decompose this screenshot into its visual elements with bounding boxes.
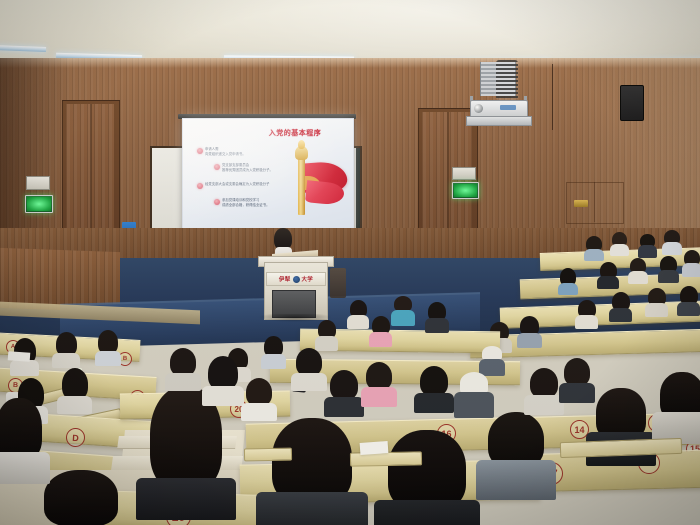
exit-sign-left: [25, 195, 53, 213]
audience-member: [428, 302, 446, 330]
audience-member: [330, 370, 358, 414]
exit-sign-right: [452, 182, 479, 199]
hanging-wire: [552, 64, 553, 130]
wall-device-box-right: [452, 167, 476, 180]
university-crest-icon: [293, 276, 300, 283]
audience-member: [482, 346, 502, 374]
audience-member: [420, 366, 448, 410]
projector-cables: [496, 60, 518, 100]
audience-member: [600, 262, 617, 286]
audience-member: [460, 372, 488, 416]
foreground-audience-member: [660, 372, 700, 442]
door-seam-left: [90, 104, 92, 246]
audience-member: [660, 256, 677, 281]
podium-text-right: 大学: [302, 275, 314, 283]
foreground-audience-member: [44, 470, 118, 525]
audience-member: [350, 300, 367, 326]
wall-speaker: [620, 85, 644, 121]
audience-member: [530, 368, 558, 412]
screen-glare: [182, 118, 352, 231]
projector-mount-plate: [466, 116, 532, 126]
handout-paper[interactable]: [360, 441, 389, 455]
hatch-latch[interactable]: [574, 200, 588, 207]
audience-member: [62, 368, 88, 410]
audience-member: [296, 348, 322, 388]
audience-member: [372, 316, 390, 344]
writing-desk: [244, 448, 292, 462]
audience-member: [564, 358, 590, 400]
audience-member: [640, 234, 655, 256]
audience-member: [98, 330, 118, 362]
podium-nameplate: 伊犁 大学: [266, 272, 326, 286]
audience-member: [56, 332, 77, 364]
audience-member: [560, 268, 576, 292]
foreground-audience-member: [0, 398, 42, 480]
audience-member: [520, 316, 539, 344]
foreground-audience-member: [272, 418, 352, 525]
audience-member: [684, 250, 700, 275]
audience-member: [246, 378, 272, 418]
audience-member: [586, 236, 602, 258]
audience-member: [394, 296, 412, 324]
audience-member: [264, 336, 283, 366]
podium-text-left: 伊犁: [279, 275, 291, 283]
audience-member: [630, 258, 646, 282]
foreground-audience-member: [388, 430, 466, 525]
audience-member: [366, 362, 392, 404]
audience-member: [578, 300, 596, 326]
foreground-audience-member: [488, 412, 544, 498]
audience-member: [680, 286, 698, 313]
stage-chair: [330, 268, 346, 298]
audience-member: [612, 232, 627, 254]
audience-member: [612, 292, 630, 318]
audience-member: [318, 320, 336, 348]
wall-device-box-left: [26, 176, 50, 190]
lecture-hall-photo: 入党的基本程序 申请人需 向党组织递交入党申请书。 党支部支部委员会 推荐优秀团…: [0, 0, 700, 525]
audience-member: [170, 348, 196, 388]
audience-member: [648, 288, 666, 314]
handout-paper[interactable]: [8, 351, 31, 362]
audience-member: [664, 230, 680, 254]
projector-label: [500, 105, 516, 110]
audience-member: [208, 356, 238, 402]
projector-lens: [474, 104, 483, 113]
